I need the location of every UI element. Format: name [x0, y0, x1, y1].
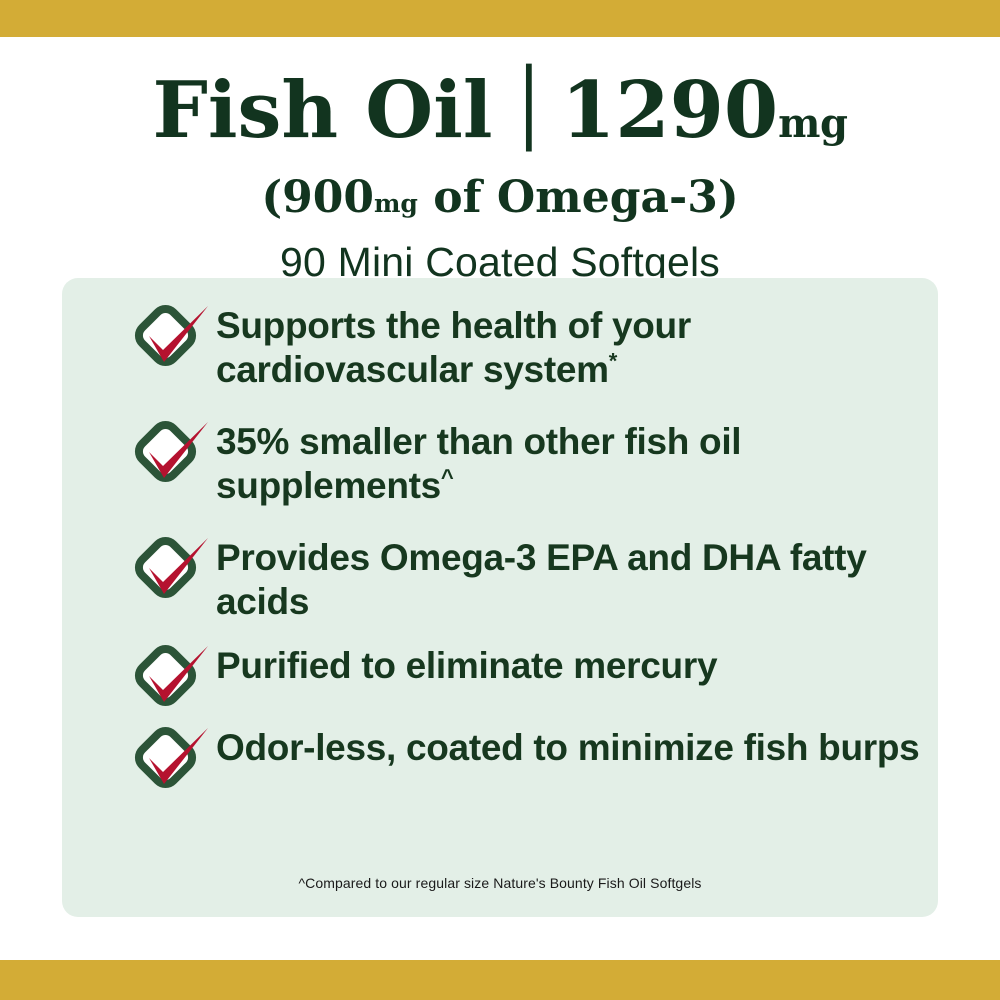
check-diamond-icon: [130, 640, 216, 714]
list-item: Provides Omega-3 EPA and DHA fatty acids: [130, 530, 920, 624]
benefit-text: Supports the health of your cardiovascul…: [216, 298, 920, 392]
benefit-footnote-marker: ^: [441, 465, 454, 490]
list-item: 35% smaller than other fish oil suppleme…: [130, 414, 920, 508]
top-gold-bar: [0, 0, 1000, 37]
product-title-line: Fish Oil│1290mg: [0, 65, 1000, 170]
check-diamond-icon: [130, 532, 216, 606]
omega-amount-suffix: of Omega-3): [418, 172, 739, 223]
benefit-text: Purified to eliminate mercury: [216, 638, 717, 688]
strength-unit: mg: [778, 100, 847, 147]
strength-value: 1290: [561, 65, 778, 156]
benefit-label: Supports the health of your cardiovascul…: [216, 305, 691, 390]
title-divider: │: [507, 62, 552, 154]
check-diamond-icon: [130, 416, 216, 490]
list-item: Odor-less, coated to minimize fish burps: [130, 720, 920, 796]
benefit-label: Odor-less, coated to minimize fish burps: [216, 727, 919, 768]
footnote-text: ^Compared to our regular size Nature's B…: [62, 874, 938, 892]
benefit-text: Odor-less, coated to minimize fish burps: [216, 720, 919, 770]
check-diamond-icon: [130, 722, 216, 796]
benefit-footnote-marker: *: [609, 349, 617, 374]
list-item: Purified to eliminate mercury: [130, 638, 920, 714]
bottom-gold-bar: [0, 960, 1000, 1000]
check-diamond-icon: [130, 300, 216, 374]
benefit-label: 35% smaller than other fish oil suppleme…: [216, 421, 741, 506]
benefit-label: Purified to eliminate mercury: [216, 645, 717, 686]
benefit-label: Provides Omega-3 EPA and DHA fatty acids: [216, 537, 866, 622]
product-name: Fish Oil: [153, 65, 493, 156]
benefit-text: Provides Omega-3 EPA and DHA fatty acids: [216, 530, 920, 624]
omega-amount-prefix: (900: [261, 172, 374, 223]
product-header: Fish Oil│1290mg (900mg of Omega-3) 90 Mi…: [0, 37, 1000, 278]
benefit-text: 35% smaller than other fish oil suppleme…: [216, 414, 920, 508]
benefits-list: Supports the health of your cardiovascul…: [130, 298, 920, 796]
list-item: Supports the health of your cardiovascul…: [130, 298, 920, 392]
omega-amount-unit: mg: [374, 189, 418, 218]
omega-subtitle-line: (900mg of Omega-3): [0, 172, 1000, 230]
benefits-panel: Supports the health of your cardiovascul…: [62, 278, 938, 917]
